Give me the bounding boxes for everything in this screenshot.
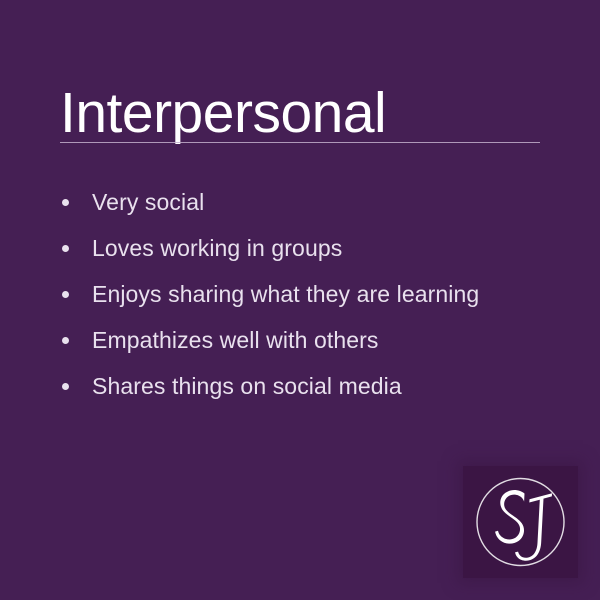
title-divider [60, 142, 540, 143]
interpersonal-slide: Interpersonal Very social Loves working … [0, 0, 600, 600]
list-item-label: Very social [92, 189, 204, 215]
list-item-label: Enjoys sharing what they are learning [92, 281, 479, 307]
list-item: Enjoys sharing what they are learning [60, 278, 520, 311]
list-item-label: Empathizes well with others [92, 327, 378, 353]
list-item-label: Loves working in groups [92, 235, 342, 261]
sj-monogram-icon [463, 466, 578, 578]
list-item: Shares things on social media [60, 370, 520, 403]
list-item-label: Shares things on social media [92, 373, 402, 399]
bullet-dot-icon [62, 337, 69, 344]
list-item: Very social [60, 186, 520, 219]
trait-list: Very social Loves working in groups Enjo… [60, 186, 520, 403]
sj-logo [463, 466, 578, 578]
bullet-dot-icon [62, 245, 69, 252]
list-item: Loves working in groups [60, 232, 520, 265]
bullet-dot-icon [62, 199, 69, 206]
list-item: Empathizes well with others [60, 324, 520, 357]
page-title: Interpersonal [60, 80, 386, 146]
bullet-dot-icon [62, 291, 69, 298]
bullet-dot-icon [62, 383, 69, 390]
